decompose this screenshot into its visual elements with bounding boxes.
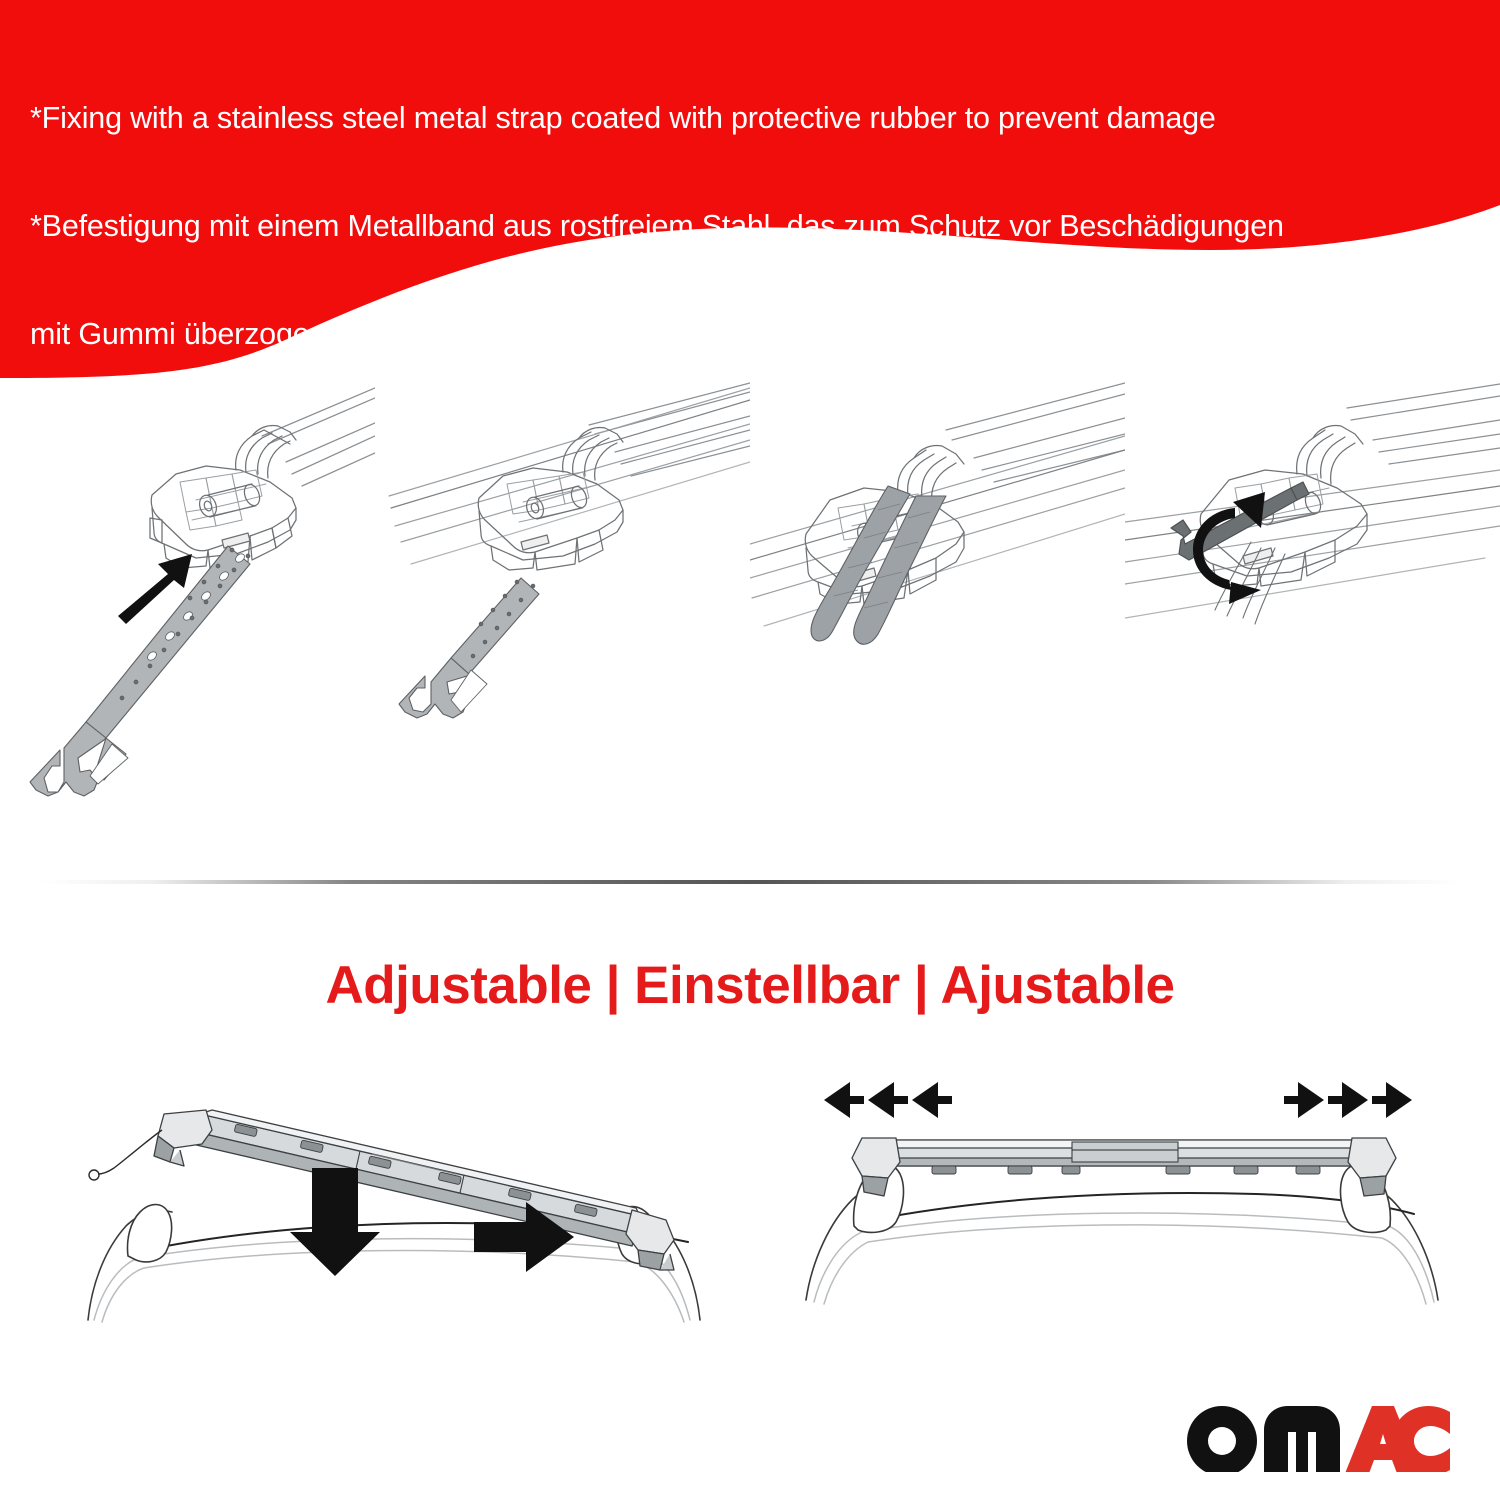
foot-label (222, 533, 250, 548)
crossbar-assembly (852, 1138, 1396, 1196)
step-3-illustration (750, 378, 1125, 878)
banner-text-block: *Fixing with a stainless steel metal str… (30, 28, 1470, 380)
foot-label (521, 535, 549, 550)
step-panel-1 (0, 378, 375, 878)
triple-arrow-right-icon (1284, 1082, 1412, 1118)
foot-internal-ribs (507, 472, 593, 522)
header-banner: *Fixing with a stainless steel metal str… (0, 0, 1500, 380)
foot-internal-ribs (180, 470, 266, 530)
logo-letter-o (1187, 1406, 1257, 1472)
step-2-illustration (375, 378, 750, 878)
allen-key-tool (1171, 482, 1309, 560)
crossbar-profile (946, 383, 1125, 482)
step-panel-4 (1125, 378, 1500, 878)
step-panel-2 (375, 378, 750, 878)
omac-logo (1186, 1406, 1452, 1472)
metal-strap (30, 546, 250, 796)
figure-crossbar-width-adjustment (790, 1070, 1460, 1405)
banner-line-1: *Fixing with a stainless steel metal str… (30, 100, 1470, 136)
adjustable-title: Adjustable | Einstellbar | Ajustable (0, 955, 1500, 1016)
crossbar-profile (1347, 384, 1500, 464)
section-divider (40, 880, 1460, 884)
step-4-illustration (1125, 378, 1500, 878)
banner-line-2: *Befestigung mit einem Metallband aus ro… (30, 208, 1470, 244)
roof-rail (750, 436, 1125, 626)
omac-logo-mark (1186, 1406, 1452, 1472)
clamp-arms (1297, 426, 1363, 485)
clamp-arms (236, 425, 296, 478)
roof-rail (389, 388, 750, 564)
logo-letter-m (1264, 1406, 1340, 1472)
step-1-illustration (0, 378, 375, 878)
triple-arrow-left-icon (824, 1082, 952, 1118)
instruction-sheet-page: *Fixing with a stainless steel metal str… (0, 0, 1500, 1500)
crossbar-width-illustration (790, 1070, 1460, 1400)
figure-crossbar-placement (40, 1070, 760, 1405)
metal-strap (399, 578, 539, 718)
banner-line-3: mit Gummi überzogen ist (30, 316, 1470, 352)
installation-steps (0, 378, 1500, 878)
clamp-axle (197, 482, 263, 519)
logo-letter-c (1392, 1406, 1450, 1472)
step-panel-3 (750, 378, 1125, 878)
crossbar-placement-illustration (40, 1070, 760, 1400)
strap-wrapped (811, 486, 946, 644)
adjustment-figures (0, 1070, 1500, 1400)
